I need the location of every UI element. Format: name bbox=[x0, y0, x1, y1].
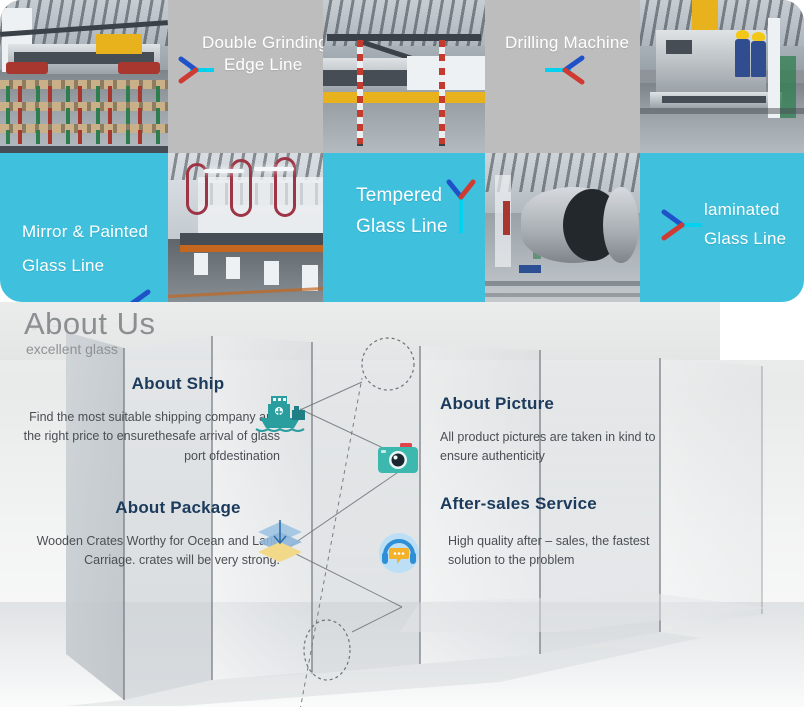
label-line-1: Double Grinding bbox=[202, 32, 323, 54]
block-body: High quality after – sales, the fastest … bbox=[448, 532, 690, 571]
block-heading: About Package bbox=[20, 498, 280, 518]
label-line-1: laminated bbox=[704, 199, 786, 221]
package-box-icon bbox=[254, 518, 306, 566]
photo-autoclave bbox=[485, 153, 640, 302]
camera-icon bbox=[378, 442, 418, 476]
page-subtitle: excellent glass bbox=[26, 341, 118, 357]
cell-double-grinding-edge-line[interactable]: Double Grinding Edge Line bbox=[168, 0, 323, 153]
block-heading: About Picture bbox=[440, 394, 690, 414]
block-body: Find the most suitable shipping company … bbox=[20, 408, 280, 466]
label-line-1: Tempered bbox=[356, 183, 448, 208]
cell-tempered-glass-line[interactable]: Tempered Glass Line bbox=[323, 153, 485, 302]
arrow-left-icon bbox=[656, 205, 702, 245]
photo-grinding-line bbox=[0, 0, 168, 153]
label-line-2: Edge Line bbox=[202, 54, 323, 76]
label-line-2: Glass Line bbox=[22, 255, 148, 277]
arrow-left-icon bbox=[172, 50, 218, 90]
arrow-up-icon bbox=[441, 179, 481, 235]
photo-painting-line bbox=[168, 153, 323, 302]
production-lines-grid: Double Grinding Edge Line bbox=[0, 0, 804, 302]
cell-laminated-glass-line[interactable]: laminated Glass Line bbox=[640, 153, 804, 302]
label-tempered-glass-line: Tempered Glass Line bbox=[356, 183, 448, 239]
arrow-right-icon bbox=[110, 285, 156, 302]
about-us-section: About Us About Us excellent glass About … bbox=[0, 302, 804, 707]
cell-mirror-painted-glass-line[interactable]: Mirror & Painted Glass Line bbox=[0, 153, 168, 302]
ship-icon bbox=[252, 388, 308, 434]
photo-drilling-workers bbox=[640, 0, 804, 153]
headset-support-icon bbox=[378, 532, 420, 574]
label-line-2: Glass Line bbox=[704, 228, 786, 250]
block-body: Wooden Crates Worthy for Ocean and Land … bbox=[20, 532, 280, 571]
label-double-grinding-edge-line: Double Grinding Edge Line bbox=[202, 32, 323, 77]
block-heading: About Ship bbox=[20, 374, 280, 394]
label-laminated-glass-line: laminated Glass Line bbox=[704, 199, 786, 251]
label-line-1: Mirror & Painted bbox=[22, 221, 148, 243]
block-after-sales-service: After-sales Service High quality after –… bbox=[440, 494, 690, 571]
cell-drilling-machine[interactable]: Drilling Machine bbox=[485, 0, 640, 153]
label-mirror-painted-glass-line: Mirror & Painted Glass Line bbox=[22, 221, 148, 278]
page-root: Double Grinding Edge Line bbox=[0, 0, 804, 707]
block-about-package: About Package Wooden Crates Worthy for O… bbox=[20, 498, 280, 571]
label-line-2: Glass Line bbox=[356, 214, 448, 239]
block-about-picture: About Picture All product pictures are t… bbox=[440, 394, 690, 467]
block-body: All product pictures are taken in kind t… bbox=[440, 428, 690, 467]
block-heading: After-sales Service bbox=[440, 494, 690, 514]
page-title-reflection: About Us bbox=[24, 312, 156, 334]
arrow-right-icon bbox=[543, 50, 589, 90]
photo-tempering-line bbox=[323, 0, 485, 153]
block-about-ship: About Ship Find the most suitable shippi… bbox=[20, 374, 280, 466]
